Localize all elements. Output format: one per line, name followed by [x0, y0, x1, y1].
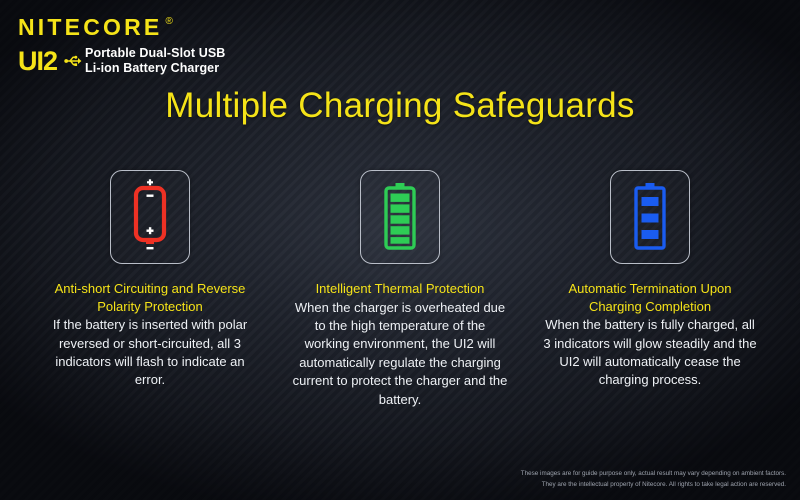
icon-frame-2 [360, 170, 440, 264]
column-heading-3: Automatic Termination Upon Charging Comp… [543, 280, 758, 315]
icon-frame-3 [610, 170, 690, 264]
brand-header: NITECORE ® UI2 Portable Dual-Slot USB Li… [18, 16, 225, 77]
registered-trademark-icon: ® [165, 17, 172, 27]
column-body-1: If the battery is inserted with polar re… [41, 316, 259, 390]
model-description: Portable Dual-Slot USB Li-ion Battery Ch… [85, 46, 225, 77]
slide-canvas: NITECORE ® UI2 Portable Dual-Slot USB Li… [0, 0, 800, 500]
battery-charging-complete-icon [628, 183, 672, 251]
model-name: UI2 [18, 48, 57, 75]
safeguard-column-1: Anti-short Circuiting and Reverse Polari… [25, 170, 275, 409]
footer-line-2: They are the intellectual property of Ni… [521, 479, 786, 490]
footer-disclaimer: These images are for guide purpose only,… [521, 468, 786, 490]
column-heading-2: Intelligent Thermal Protection [293, 280, 508, 298]
battery-full-thermal-icon [378, 183, 422, 251]
brand-logo: NITECORE ® [18, 16, 225, 39]
column-body-3: When the battery is fully charged, all 3… [541, 316, 759, 390]
safeguard-column-3: Automatic Termination Upon Charging Comp… [525, 170, 775, 409]
footer-line-1: These images are for guide purpose only,… [521, 468, 786, 479]
page-title: Multiple Charging Safeguards [0, 86, 800, 126]
safeguards-columns: Anti-short Circuiting and Reverse Polari… [0, 170, 800, 409]
column-heading-1: Anti-short Circuiting and Reverse Polari… [43, 280, 258, 315]
model-desc-line2: Li-ion Battery Charger [85, 61, 225, 76]
safeguard-column-2: Intelligent Thermal Protection When the … [275, 170, 525, 409]
model-desc-line1: Portable Dual-Slot USB [85, 46, 225, 61]
usb-trident-icon [62, 54, 82, 68]
brand-name: NITECORE [18, 16, 162, 39]
battery-reverse-polarity-icon [125, 179, 175, 255]
column-body-2: When the charger is overheated due to th… [291, 299, 509, 410]
model-row: UI2 Portable Dual-Slot USB Li-ion Batter… [18, 46, 225, 77]
icon-frame-1 [110, 170, 190, 264]
